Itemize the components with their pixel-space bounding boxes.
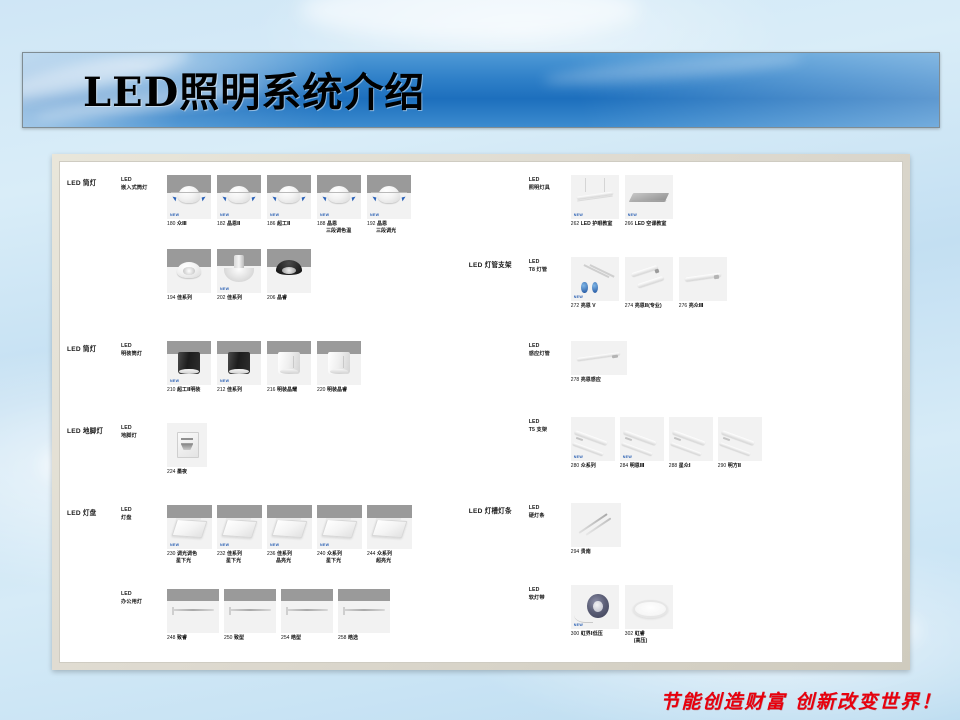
product-item[interactable]: 216 明装晶耀 (267, 341, 311, 394)
product-caption: 262 LED 护眼教室 (571, 221, 613, 228)
t5-tube-lower (573, 442, 604, 456)
product-number: 278 (571, 377, 581, 383)
ceiling-line (271, 192, 308, 193)
product-item[interactable]: 258 皓选 (338, 589, 390, 642)
product-number: 248 (167, 635, 177, 641)
product-label: 188 晶恩 (317, 221, 337, 227)
product-name: 佳系列 (227, 295, 242, 301)
product-caption: 280 众系列 (571, 463, 596, 470)
product-caption: 182 晶恩Ⅱ (217, 221, 240, 228)
product-number: 220 (317, 387, 327, 393)
product-row: 294 贵南 (571, 503, 621, 556)
linear-fixture-bar (229, 609, 271, 610)
section-subtitle-line: LED (529, 343, 550, 351)
section-subtitle-line: 办公用灯 (121, 599, 142, 607)
product-caption: 276 亮众Ⅲ (679, 303, 704, 310)
section-title: LED 筒灯 (67, 343, 96, 353)
product-caption: 212 佳系列 (217, 387, 242, 394)
product-thumbnail (167, 423, 207, 467)
product-thumbnail: NEW (620, 417, 664, 461)
section-subtitle-line: 明装筒灯 (121, 351, 142, 359)
product-caption: 230 调光调色星下光 (167, 551, 197, 565)
product-item[interactable]: 194 佳系列 (167, 249, 211, 302)
catalog-left-column: LED 筒灯LED嵌入式筒灯NEW180 众ⅢNEW182 晶恩ⅡNEW186 … (59, 161, 515, 663)
faceplate-slot (181, 438, 192, 440)
suspension-wire (172, 607, 174, 615)
product-thumbnail (281, 589, 333, 633)
connector-link (576, 437, 583, 441)
product-thumbnail: NEW (571, 257, 619, 301)
title-banner: LED照明系统介绍 (22, 52, 940, 128)
product-thumbnail: NEW (625, 175, 673, 219)
product-thumbnail: NEW (571, 417, 615, 461)
product-label: 212 佳系列 (217, 387, 242, 393)
product-label: 254 皓型 (281, 635, 301, 641)
new-badge: NEW (170, 543, 179, 547)
product-item[interactable]: NEW192 晶恩三段调光 (367, 175, 411, 235)
product-label: 300 虹界Ⅰ低压 (571, 631, 603, 637)
product-label: 194 佳系列 (167, 295, 192, 301)
product-label: 284 明恩Ⅲ (620, 463, 645, 469)
new-badge: NEW (220, 213, 229, 217)
linear-fixture-bar (172, 609, 214, 610)
product-thumbnail (338, 589, 390, 633)
section-title: LED 灯槽灯条 (469, 505, 512, 515)
product-thumbnail: NEW (267, 505, 312, 549)
product-label: 280 众系列 (571, 463, 596, 469)
product-name: 墨夜 (177, 469, 187, 475)
product-caption: 240 众系列星下光 (317, 551, 342, 565)
product-item[interactable]: 220 明装晶睿 (317, 341, 361, 394)
product-label: 230 调光调色 (167, 551, 197, 557)
product-name: 晶睿 (277, 295, 287, 301)
product-label: 240 众系列 (317, 551, 342, 557)
tube-end-cap (612, 355, 618, 359)
product-thumbnail (571, 341, 627, 375)
product-caption: 284 明恩Ⅲ (620, 463, 645, 470)
new-badge: NEW (170, 379, 179, 383)
product-caption: 294 贵南 (571, 549, 591, 556)
section-subtitle: LED感应灯管 (529, 343, 550, 358)
spring-clip-left (322, 197, 327, 202)
product-name: 星众Ⅰ (679, 463, 691, 469)
product-thumbnail: NEW (167, 175, 211, 219)
product-item[interactable]: NEW284 明恩Ⅲ (620, 417, 664, 470)
product-number: 182 (217, 221, 227, 227)
product-number: 192 (367, 221, 377, 227)
product-label: 182 晶恩Ⅱ (217, 221, 240, 227)
reel-hub (593, 601, 603, 612)
product-row: NEW272 亮恩 V274 亮恩Ⅱ(专业)276 亮众Ⅲ (571, 257, 727, 310)
new-badge: NEW (628, 213, 637, 217)
product-item[interactable]: 254 皓型 (281, 589, 333, 642)
product-label: 258 皓选 (338, 635, 358, 641)
new-badge: NEW (370, 213, 379, 217)
product-thumbnail (625, 257, 673, 301)
product-item[interactable]: NEW262 LED 护眼教室 (571, 175, 619, 228)
product-row: NEW300 虹界Ⅰ低压302 虹睿(高压) (571, 585, 673, 645)
product-item[interactable]: 290 明方Ⅱ (718, 417, 762, 470)
product-label: 266 LED 空课教室 (625, 221, 667, 227)
product-item[interactable]: NEW232 佳系列星下光 (217, 505, 262, 565)
connector-link (674, 437, 681, 441)
new-badge: NEW (220, 287, 229, 291)
product-caption: 258 皓选 (338, 635, 358, 642)
blue-end-cap (581, 282, 587, 293)
product-caption: 192 晶恩三段调光 (367, 221, 396, 235)
product-thumbnail (669, 417, 713, 461)
section-subtitle-line: LED (121, 425, 137, 433)
product-number: 302 (625, 631, 635, 637)
suspension-wire (604, 178, 605, 192)
product-item[interactable]: NEW180 众Ⅲ (167, 175, 211, 228)
spring-clip-right (251, 197, 256, 202)
product-caption: 278 亮恩感应 (571, 377, 601, 384)
product-label: 232 佳系列 (217, 551, 242, 557)
product-number: 244 (367, 551, 377, 557)
suspension-wire (585, 178, 586, 192)
product-number: 280 (571, 463, 581, 469)
product-number: 212 (217, 387, 227, 393)
ceiling-line (321, 192, 358, 193)
product-caption: 210 超工Ⅱ明装 (167, 387, 200, 394)
product-name: 众系列 (377, 551, 392, 557)
spring-clip-left (372, 197, 377, 202)
product-caption: 232 佳系列星下光 (217, 551, 242, 565)
product-name: LED 护眼教室 (581, 221, 613, 227)
surface-downlight-body (328, 352, 349, 375)
product-name: 佳系列 (227, 551, 242, 557)
product-thumbnail (267, 341, 311, 385)
flat-panel-light (372, 519, 408, 538)
spring-clip-right (401, 197, 406, 202)
strip-reel (587, 594, 609, 619)
product-label: 180 众Ⅲ (167, 221, 187, 227)
product-name-secondary: 星下光 (217, 558, 242, 565)
section-title: LED 地脚灯 (67, 425, 103, 435)
panel-edge (326, 518, 352, 520)
product-item[interactable]: 288 星众Ⅰ (669, 417, 713, 470)
tube-body (637, 276, 664, 288)
connector-link (723, 437, 730, 441)
product-name: 明恩Ⅲ (630, 463, 645, 469)
section-subtitle-line: 感应灯管 (529, 351, 550, 359)
product-item[interactable]: 276 亮众Ⅲ (679, 257, 727, 310)
product-item[interactable]: 206 晶睿 (267, 249, 311, 302)
product-thumbnail (679, 257, 727, 301)
product-name: 虹界Ⅰ低压 (581, 631, 603, 637)
product-item[interactable]: NEW230 调光调色星下光 (167, 505, 212, 565)
product-label: 302 虹睿 (625, 631, 645, 637)
product-row: NEW210 超工Ⅱ明装NEW212 佳系列216 明装晶耀220 明装晶睿 (167, 341, 361, 394)
product-caption: 180 众Ⅲ (167, 221, 187, 228)
new-badge: NEW (623, 455, 632, 459)
product-caption: 236 佳系列晶亮光 (267, 551, 292, 565)
product-caption: 250 致型 (224, 635, 244, 642)
product-item[interactable]: 302 虹睿(高压) (625, 585, 673, 645)
product-item[interactable]: 248 致睿 (167, 589, 219, 642)
product-name: 佳系列 (277, 551, 292, 557)
section-subtitle: LED灯盘 (121, 507, 132, 522)
product-label: 248 致睿 (167, 635, 187, 641)
product-number: 188 (317, 221, 327, 227)
product-thumbnail (317, 341, 361, 385)
product-thumbnail (718, 417, 762, 461)
panel-edge (376, 518, 402, 520)
product-thumbnail: NEW (571, 585, 619, 629)
product-name: 明装晶睿 (327, 387, 347, 393)
new-badge: NEW (220, 379, 229, 383)
spring-clip-left (172, 197, 177, 202)
t5-tube-lower (720, 442, 751, 456)
product-item[interactable]: NEW236 佳系列晶亮光 (267, 505, 312, 565)
catalog-page: LED 筒灯LED嵌入式筒灯NEW180 众ⅢNEW182 晶恩ⅡNEW186 … (59, 161, 903, 663)
product-name: 佳系列 (177, 295, 192, 301)
section-subtitle-line: LED (529, 177, 550, 185)
tube-end-cap (714, 275, 719, 280)
section-subtitle: LED硬灯条 (529, 505, 545, 520)
section-subtitle-line: LED (121, 591, 142, 599)
linear-fixture-bar (343, 609, 385, 610)
product-item[interactable]: 274 亮恩Ⅱ(专业) (625, 257, 673, 310)
product-label: 220 明装晶睿 (317, 387, 347, 393)
product-number: 288 (669, 463, 679, 469)
flat-panel-light (322, 519, 358, 538)
thumb-backdrop-band (167, 589, 219, 601)
product-thumbnail (625, 585, 673, 629)
product-item[interactable]: 278 亮恩感应 (571, 341, 627, 384)
section-subtitle-line: 硬灯条 (529, 513, 545, 521)
product-number: 250 (224, 635, 234, 641)
product-name: 晶恩 (327, 221, 337, 227)
product-caption: 248 致睿 (167, 635, 187, 642)
product-name: 亮恩感应 (581, 377, 601, 383)
product-thumbnail: NEW (267, 175, 311, 219)
new-badge: NEW (270, 543, 279, 547)
section-subtitle-line: LED (529, 505, 545, 513)
spring-clip-right (351, 197, 356, 202)
product-row: 248 致睿250 致型254 皓型258 皓选 (167, 589, 390, 642)
new-badge: NEW (574, 623, 583, 627)
section-subtitle-line: 灯盘 (121, 515, 132, 523)
product-label: 250 致型 (224, 635, 244, 641)
product-name: 亮众Ⅲ (689, 303, 704, 309)
product-label: 244 众系列 (367, 551, 392, 557)
product-item[interactable]: NEW186 超工Ⅱ (267, 175, 311, 228)
lens (179, 369, 198, 374)
product-caption: 206 晶睿 (267, 295, 287, 302)
spring-clip-right (201, 197, 206, 202)
product-caption: 186 超工Ⅱ (267, 221, 290, 228)
surface-downlight-body (278, 352, 299, 375)
flat-panel-light (222, 519, 258, 538)
thumb-backdrop-band (267, 505, 312, 518)
product-name: 皓型 (291, 635, 301, 641)
product-thumbnail: NEW (217, 249, 261, 293)
product-row: 224 墨夜 (167, 423, 207, 476)
section-subtitle-line: LED (121, 507, 132, 515)
product-caption: 202 佳系列 (217, 295, 242, 302)
product-name: 亮恩Ⅱ(专业) (635, 303, 662, 309)
ceiling-line (221, 192, 258, 193)
ceiling-line (171, 192, 208, 193)
suspension-wire (286, 607, 288, 615)
product-name-secondary: 晶亮光 (267, 558, 292, 565)
product-caption: 254 皓型 (281, 635, 301, 642)
product-row: NEW230 调光调色星下光NEW232 佳系列星下光NEW236 佳系列晶亮光… (167, 505, 412, 565)
product-item[interactable]: NEW202 佳系列 (217, 249, 261, 302)
section-title: LED 灯盘 (67, 507, 96, 517)
ceiling-line (371, 192, 408, 193)
product-number: 300 (571, 631, 581, 637)
product-number: 276 (679, 303, 689, 309)
product-label: 192 晶恩 (367, 221, 387, 227)
product-name: 众Ⅲ (177, 221, 187, 227)
lens (330, 369, 348, 374)
light-source (282, 267, 296, 274)
product-name: LED 空课教室 (635, 221, 667, 227)
t5-tube-lower (622, 442, 653, 456)
product-label: 202 佳系列 (217, 295, 242, 301)
section-subtitle: LEDT5 支架 (529, 419, 547, 434)
cloud-wisp (300, 0, 640, 40)
product-thumbnail (224, 589, 276, 633)
product-number: 290 (718, 463, 728, 469)
blue-end-cap (592, 282, 598, 293)
product-name: 晶恩Ⅱ (227, 221, 240, 227)
new-badge: NEW (270, 213, 279, 217)
product-caption: 188 晶恩三段调色温 (317, 221, 351, 235)
product-number: 254 (281, 635, 291, 641)
product-item[interactable]: 244 众系列超亮光 (367, 505, 412, 565)
section-subtitle-line: 照明灯具 (529, 185, 550, 193)
product-thumbnail (571, 503, 621, 547)
product-number: 262 (571, 221, 581, 227)
suspension-wire (229, 607, 231, 615)
product-row: 278 亮恩感应 (571, 341, 627, 384)
catalog-right-column: LED照明灯具NEW262 LED 护眼教室NEW266 LED 空课教室LED… (515, 161, 903, 663)
section-subtitle: LEDT8 灯管 (529, 259, 547, 274)
product-item[interactable]: 224 墨夜 (167, 423, 207, 476)
thumb-backdrop-band (224, 589, 276, 601)
section-subtitle-line: LED (529, 259, 547, 267)
product-label: 288 星众Ⅰ (669, 463, 691, 469)
product-row: NEW280 众系列NEW284 明恩Ⅲ288 星众Ⅰ290 明方Ⅱ (571, 417, 762, 470)
product-item[interactable]: NEW188 晶恩三段调色温 (317, 175, 361, 235)
new-badge: NEW (574, 295, 583, 299)
product-thumbnail: NEW (317, 175, 361, 219)
tube-end-cap (655, 269, 660, 275)
product-label: 236 佳系列 (267, 551, 292, 557)
product-caption: 272 亮恩 V (571, 303, 596, 310)
product-label: 210 超工Ⅱ明装 (167, 387, 200, 393)
product-name: 超工Ⅱ (277, 221, 290, 227)
product-label: 290 明方Ⅱ (718, 463, 741, 469)
product-caption: 288 星众Ⅰ (669, 463, 691, 470)
product-item[interactable]: NEW182 晶恩Ⅱ (217, 175, 261, 228)
product-name: 超工Ⅱ明装 (177, 387, 201, 393)
product-item[interactable]: NEW272 亮恩 V (571, 257, 619, 310)
product-number: 186 (267, 221, 277, 227)
section-subtitle-line: 地脚灯 (121, 433, 137, 441)
product-label: 272 亮恩 V (571, 303, 596, 309)
product-item[interactable]: NEW300 虹界Ⅰ低压 (571, 585, 619, 638)
banner-cloud (543, 52, 804, 90)
product-name-secondary: 三段调色温 (317, 228, 351, 235)
surface-downlight-body (178, 352, 201, 375)
product-item[interactable]: NEW240 众系列星下光 (317, 505, 362, 565)
product-number: 294 (571, 549, 581, 555)
section-subtitle-line: LED (121, 177, 147, 185)
product-name: 皓选 (348, 635, 358, 641)
product-item[interactable]: NEW210 超工Ⅱ明装 (167, 341, 211, 394)
product-thumbnail: NEW (571, 175, 619, 219)
product-number: 210 (167, 387, 177, 393)
product-thumbnail (267, 249, 311, 293)
product-thumbnail: NEW (217, 341, 261, 385)
product-name: 明方Ⅱ (728, 463, 741, 469)
thumb-backdrop-band (281, 589, 333, 601)
product-caption: 194 佳系列 (167, 295, 192, 302)
spring-clip-left (272, 197, 277, 202)
product-item[interactable]: 250 致型 (224, 589, 276, 642)
panel-edge (226, 518, 252, 520)
reflector-cone (224, 268, 254, 281)
section-subtitle: LED嵌入式筒灯 (121, 177, 147, 192)
slide-canvas: LED照明系统介绍 LED 筒灯LED嵌入式筒灯NEW180 众ⅢNEW182 … (0, 0, 960, 720)
product-item[interactable]: NEW280 众系列 (571, 417, 615, 470)
section-subtitle-line: LED (121, 343, 142, 351)
product-number: 194 (167, 295, 177, 301)
product-item[interactable]: NEW212 佳系列 (217, 341, 261, 394)
strip-coil-ring (633, 600, 668, 618)
product-number: 216 (267, 387, 277, 393)
product-item[interactable]: NEW266 LED 空课教室 (625, 175, 673, 228)
thumb-backdrop-band (367, 505, 412, 518)
product-number: 230 (167, 551, 177, 557)
product-caption: 300 虹界Ⅰ低压 (571, 631, 603, 638)
product-name-secondary: 星下光 (317, 558, 342, 565)
product-thumbnail: NEW (317, 505, 362, 549)
lens (280, 369, 298, 374)
product-label: 294 贵南 (571, 549, 591, 555)
new-badge: NEW (170, 213, 179, 217)
spring-clip-right (301, 197, 306, 202)
product-label: 262 LED 护眼教室 (571, 221, 613, 227)
new-badge: NEW (574, 455, 583, 459)
new-badge: NEW (320, 543, 329, 547)
product-caption: 244 众系列超亮光 (367, 551, 392, 565)
product-row: NEW262 LED 护眼教室NEW266 LED 空课教室 (571, 175, 673, 228)
product-caption: 224 墨夜 (167, 469, 187, 476)
product-label: 274 亮恩Ⅱ(专业) (625, 303, 662, 309)
flat-pendant-shadow (632, 200, 667, 202)
product-thumbnail: NEW (217, 175, 261, 219)
product-item[interactable]: 294 贵南 (571, 503, 621, 556)
section-subtitle: LED软灯带 (529, 587, 545, 602)
product-name-secondary: 星下光 (167, 558, 197, 565)
product-number: 284 (620, 463, 630, 469)
product-thumbnail (167, 249, 211, 293)
product-number: 206 (267, 295, 277, 301)
product-label: 278 亮恩感应 (571, 377, 601, 383)
linear-fixture-bar (286, 609, 328, 610)
lens (229, 369, 248, 374)
section-subtitle: LED照明灯具 (529, 177, 550, 192)
product-name-secondary: 三段调光 (367, 228, 396, 235)
flat-panel-light (172, 519, 208, 538)
thumb-backdrop-band (317, 505, 362, 518)
